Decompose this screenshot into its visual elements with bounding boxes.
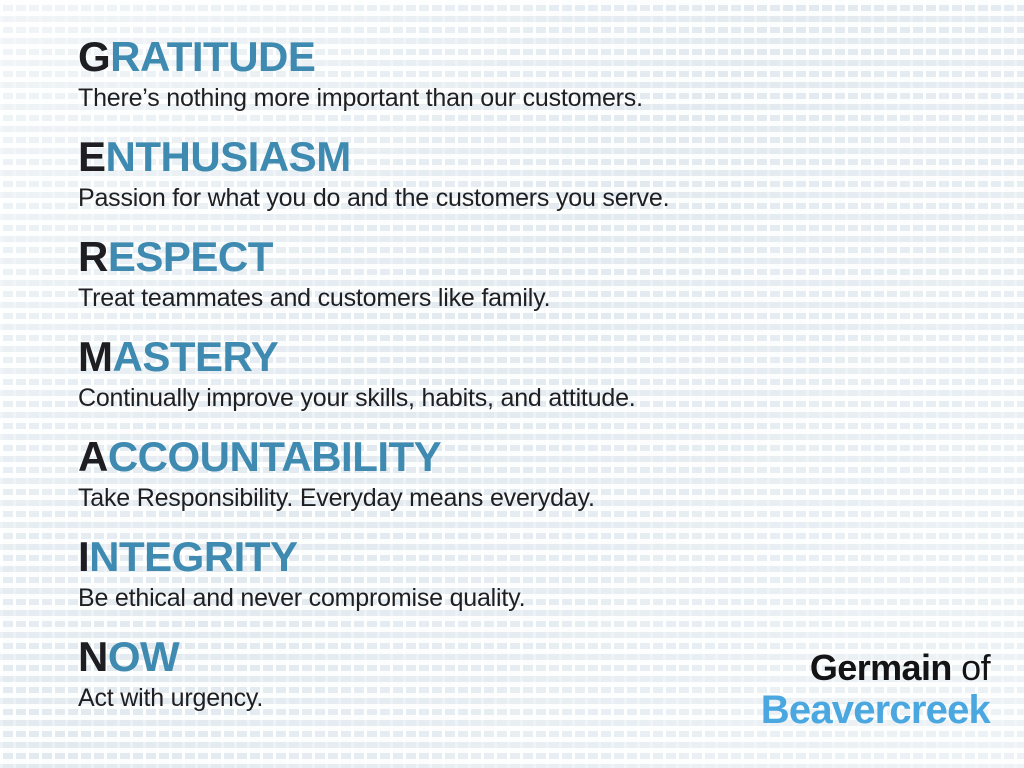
value-heading-mastery: MASTERY (78, 336, 938, 378)
logo-connector-word: of (952, 647, 990, 688)
value-initial: M (78, 333, 113, 380)
value-initial: I (78, 533, 89, 580)
value-heading-rest: RATITUDE (110, 33, 315, 80)
value-block-accountability: ACCOUNTABILITY Take Responsibility. Ever… (78, 436, 938, 524)
value-description-enthusiasm: Passion for what you do and the customer… (78, 184, 938, 213)
value-initial: N (78, 633, 108, 680)
value-block-respect: RESPECT Treat teammates and customers li… (78, 236, 938, 324)
value-heading-respect: RESPECT (78, 236, 938, 278)
value-block-mastery: MASTERY Continually improve your skills,… (78, 336, 938, 424)
value-description-integrity: Be ethical and never compromise quality. (78, 584, 938, 613)
value-heading-rest: CCOUNTABILITY (108, 433, 441, 480)
value-heading-rest: OW (108, 633, 179, 680)
value-description-accountability: Take Responsibility. Everyday means ever… (78, 484, 938, 513)
value-initial: E (78, 133, 106, 180)
value-block-gratitude: GRATITUDE There’s nothing more important… (78, 36, 938, 124)
value-initial: R (78, 233, 108, 280)
value-heading-accountability: ACCOUNTABILITY (78, 436, 938, 478)
value-heading-rest: NTHUSIASM (106, 133, 351, 180)
logo-location-name: Beavercreek (761, 690, 990, 730)
value-description-gratitude: There’s nothing more important than our … (78, 84, 938, 113)
value-block-integrity: INTEGRITY Be ethical and never compromis… (78, 536, 938, 624)
value-block-enthusiasm: ENTHUSIASM Passion for what you do and t… (78, 136, 938, 224)
value-heading-gratitude: GRATITUDE (78, 36, 938, 78)
value-heading-rest: ASTERY (113, 333, 279, 380)
core-values-list: GRATITUDE There’s nothing more important… (78, 36, 938, 725)
value-initial: G (78, 33, 110, 80)
value-heading-integrity: INTEGRITY (78, 536, 938, 578)
dealership-logo: Germain of Beavercreek (761, 650, 990, 730)
value-heading-rest: NTEGRITY (89, 533, 297, 580)
value-description-mastery: Continually improve your skills, habits,… (78, 384, 938, 413)
value-initial: A (78, 433, 108, 480)
value-heading-rest: ESPECT (108, 233, 273, 280)
values-slide: GRATITUDE There’s nothing more important… (0, 0, 1024, 768)
logo-line-primary: Germain of (761, 650, 990, 686)
value-description-respect: Treat teammates and customers like famil… (78, 284, 938, 313)
logo-brand-name: Germain (810, 647, 952, 688)
value-heading-enthusiasm: ENTHUSIASM (78, 136, 938, 178)
